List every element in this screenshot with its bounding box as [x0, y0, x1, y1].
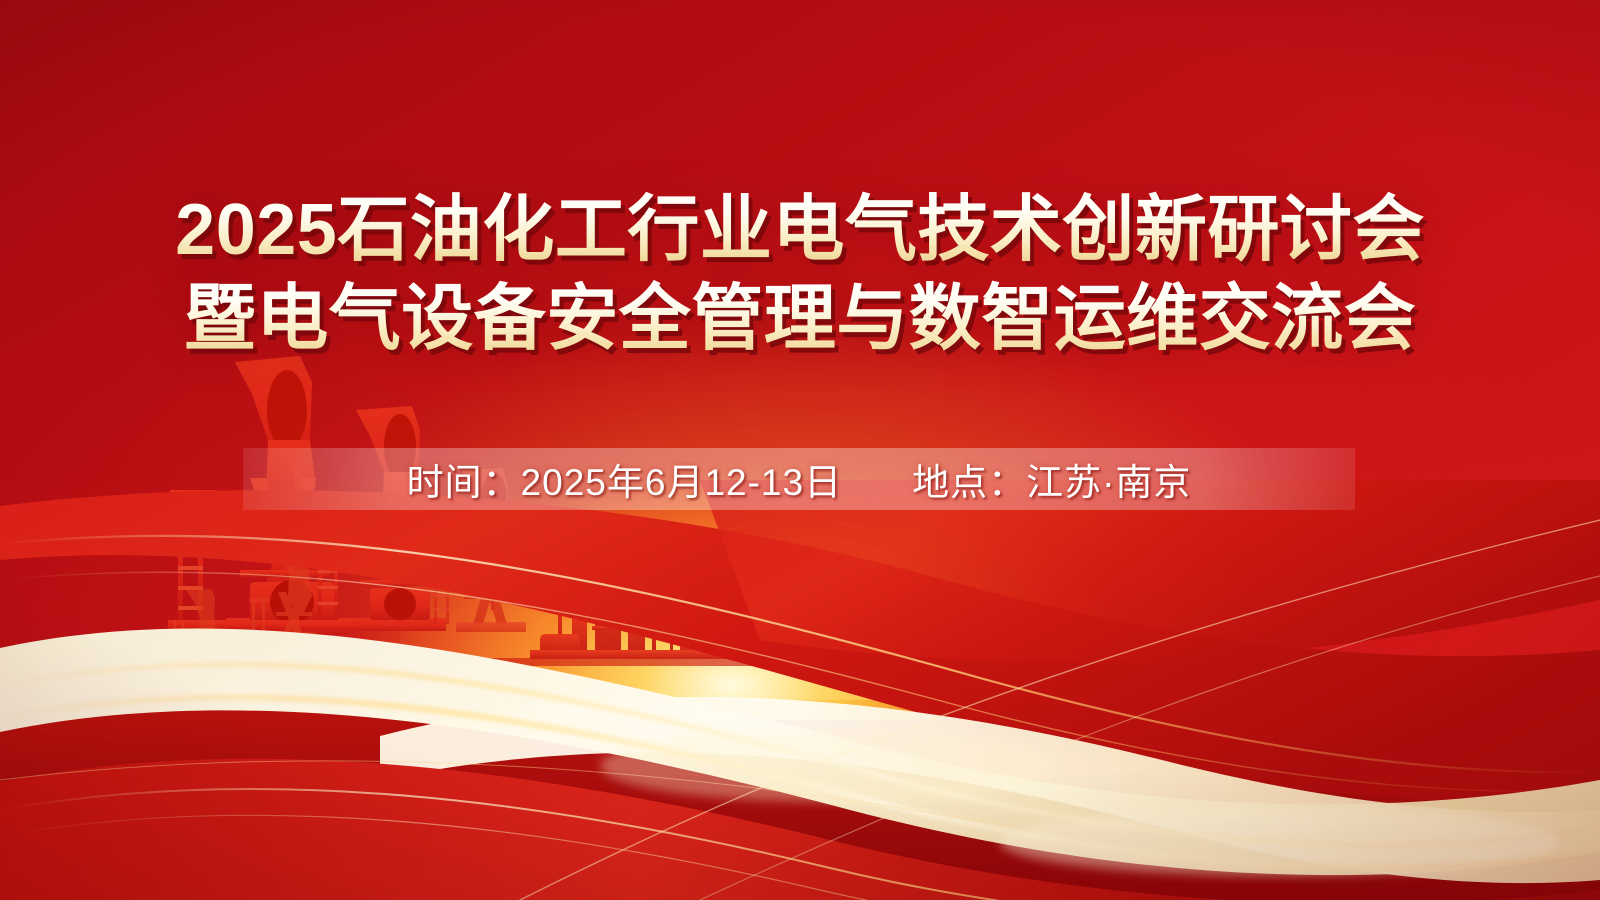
title-line-2: 暨电气设备安全管理与数智运维交流会: [0, 275, 1600, 364]
event-info-inner: 时间：2025年6月12-13日 地点：江苏·南京: [407, 452, 1192, 506]
title-block: 2025石油化工行业电气技术创新研讨会 暨电气设备安全管理与数智运维交流会: [0, 186, 1600, 365]
event-info-bar: 时间：2025年6月12-13日 地点：江苏·南京: [243, 448, 1355, 510]
event-date: 时间：2025年6月12-13日: [407, 452, 843, 506]
event-venue: 地点：江苏·南京: [912, 452, 1191, 506]
conference-banner: 2025石油化工行业电气技术创新研讨会 暨电气设备安全管理与数智运维交流会 时间…: [0, 0, 1600, 900]
title-line-1: 2025石油化工行业电气技术创新研讨会: [0, 186, 1600, 275]
